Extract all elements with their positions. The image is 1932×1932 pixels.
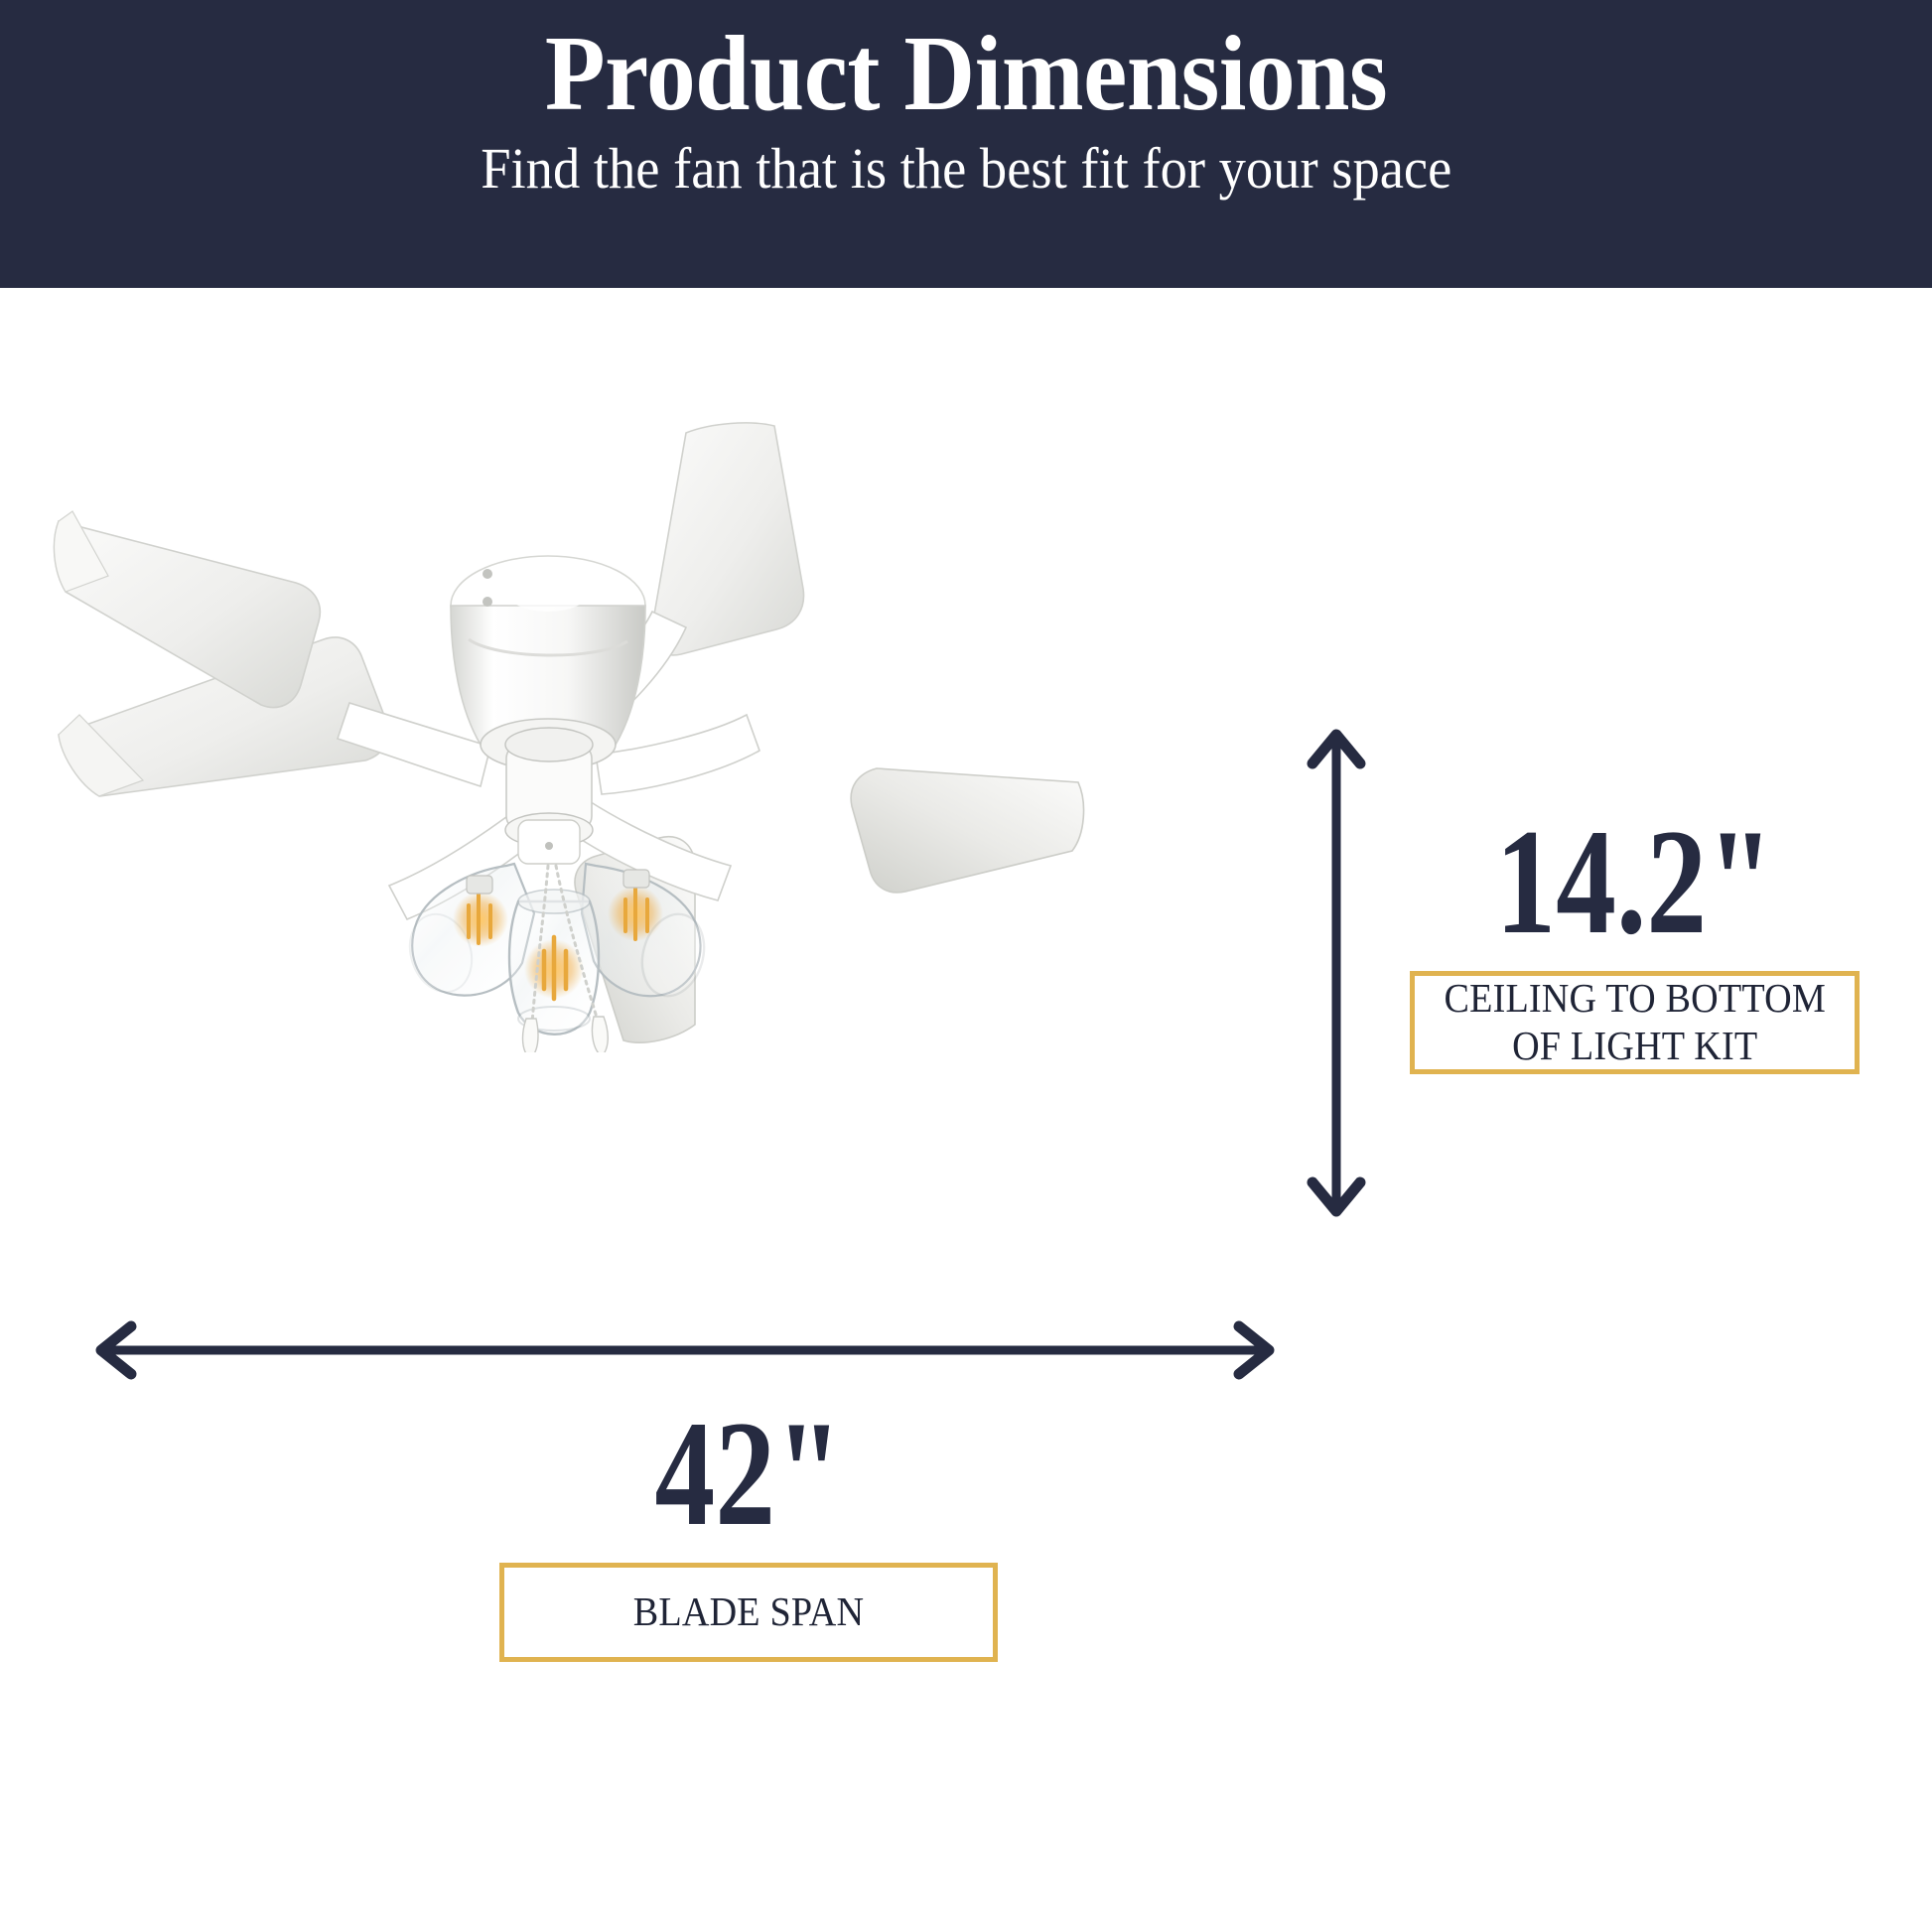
height-caption-line-1: CEILING TO BOTTOM xyxy=(1444,975,1825,1021)
height-caption-text: CEILING TO BOTTOM OF LIGHT KIT xyxy=(1444,975,1825,1069)
page-subtitle: Find the fan that is the best fit for yo… xyxy=(481,137,1451,202)
double-headed-arrow-vertical-icon xyxy=(1291,720,1382,1226)
ceiling-fan-image xyxy=(40,417,1092,1052)
fan-blade-5 xyxy=(55,511,321,708)
fan-blade-1 xyxy=(651,423,804,655)
double-headed-arrow-horizontal-icon xyxy=(79,1309,1291,1392)
product-dimensions-infographic: Product Dimensions Find the fan that is … xyxy=(0,0,1932,1932)
blade-span-dimension-value: 42" xyxy=(549,1398,948,1549)
fan-blade-2 xyxy=(851,768,1083,893)
blade-span-caption-box: BLADE SPAN xyxy=(499,1563,998,1662)
ceiling-fan-illustration xyxy=(40,417,1092,1052)
blade-span-dimension-arrow xyxy=(79,1309,1291,1392)
light-shade-center xyxy=(509,890,599,1035)
fan-switch-housing xyxy=(505,728,593,864)
height-dimension-value: 14.2" xyxy=(1454,806,1814,957)
blade-span-caption-text: BLADE SPAN xyxy=(633,1588,864,1636)
page-title: Product Dimensions xyxy=(545,18,1387,131)
height-caption-line-2: OF LIGHT KIT xyxy=(1512,1023,1757,1068)
height-caption-box: CEILING TO BOTTOM OF LIGHT KIT xyxy=(1410,971,1860,1074)
header-banner: Product Dimensions Find the fan that is … xyxy=(0,0,1932,288)
height-dimension-arrow xyxy=(1291,720,1382,1226)
